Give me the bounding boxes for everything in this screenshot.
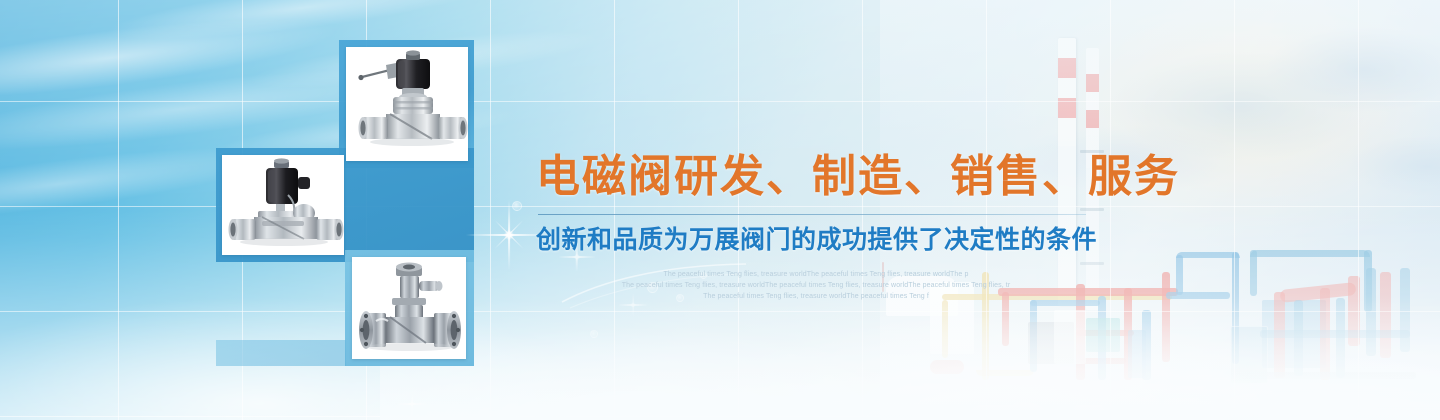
microcopy-line: The peaceful times Teng flies, treasure …	[536, 280, 1096, 291]
product-image-solenoid-valve-threaded-coil[interactable]	[222, 155, 344, 255]
mosaic-tile-accent	[216, 340, 346, 366]
solenoid-valve-icon	[222, 155, 344, 255]
banner-text-block: 电磁阀研发、制造、销售、服务 创新和品质为万展阀门的成功提供了决定性的条件 Th…	[536, 150, 1136, 302]
product-image-solenoid-valve-threaded-lever[interactable]	[346, 47, 468, 161]
product-image-solenoid-valve-flanged[interactable]	[352, 257, 466, 359]
microcopy-line: The peaceful times Teng flies, treasure …	[536, 291, 1096, 302]
hero-banner: 电磁阀研发、制造、销售、服务 创新和品质为万展阀门的成功提供了决定性的条件 Th…	[0, 0, 1440, 420]
microcopy-line: The peaceful times Teng flies, treasure …	[536, 269, 1096, 280]
banner-headline: 电磁阀研发、制造、销售、服务	[536, 150, 1136, 204]
solenoid-valve-flanged-icon	[352, 257, 466, 359]
banner-subheadline: 创新和品质为万展阀门的成功提供了决定性的条件	[536, 223, 1136, 257]
banner-microcopy: The peaceful times Teng flies, treasure …	[536, 269, 1096, 302]
product-mosaic	[0, 0, 500, 420]
solenoid-valve-icon	[346, 47, 468, 161]
headline-divider	[538, 214, 1086, 215]
